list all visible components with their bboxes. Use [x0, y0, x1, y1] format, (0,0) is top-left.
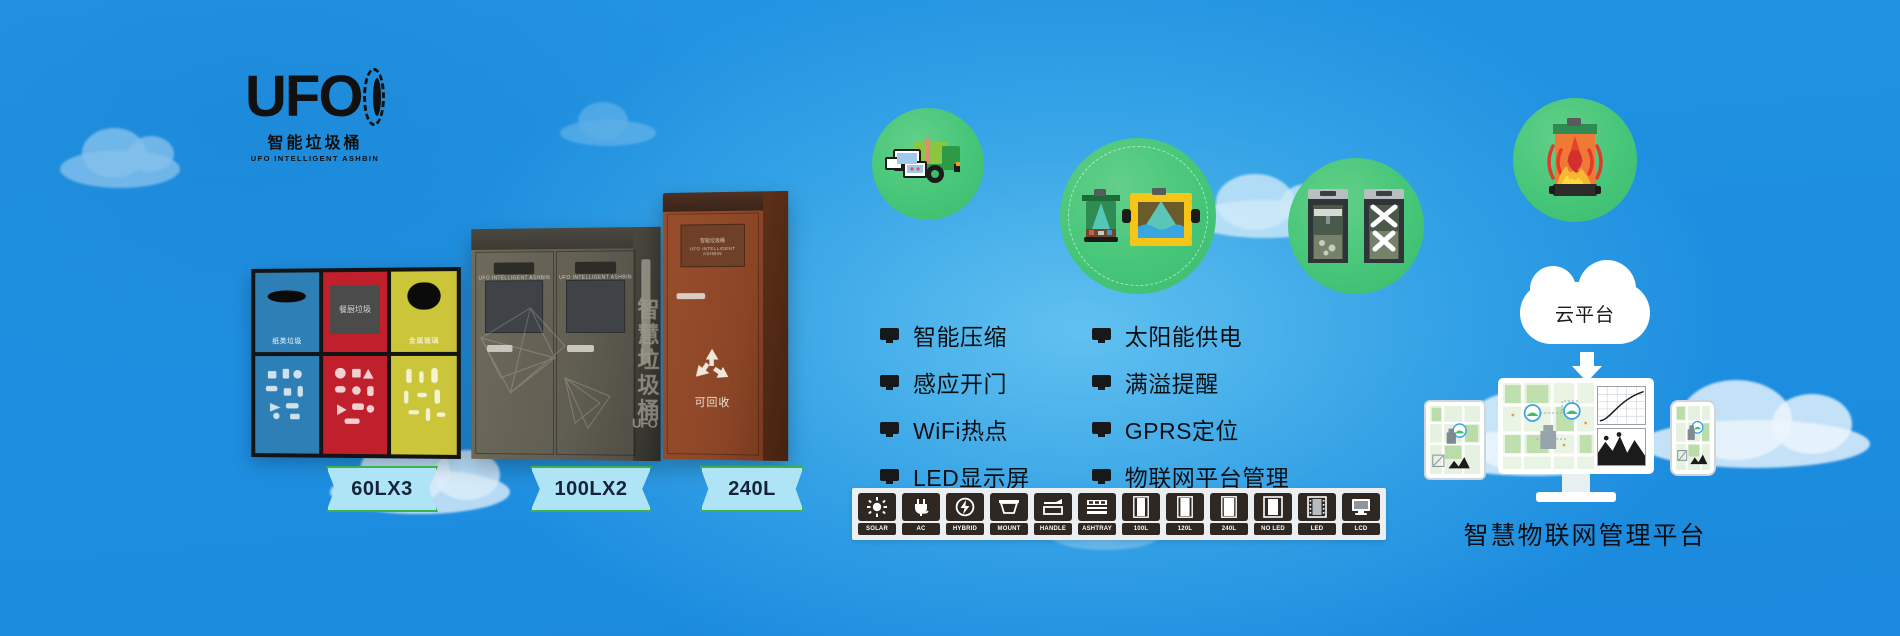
compaction-mechanism-icon: [1302, 183, 1410, 269]
spec-label: HYBRID: [946, 523, 984, 535]
spec-option-mount[interactable]: MOUNT: [990, 493, 1028, 535]
kitchen-waste-graphic: [323, 356, 387, 432]
plug-icon: [902, 493, 940, 521]
spec-option-hybrid[interactable]: HYBRID: [946, 493, 984, 535]
spec-option-strip: SOLAR AC HYBRID MOUNT: [852, 488, 1386, 540]
feature-list: 智能压缩 感应开门 WiFi热点 LED显示屏 太阳能供电 满溢提醒: [880, 318, 1289, 493]
feature-circle-fill-sensor: [1060, 138, 1216, 294]
spec-label: ASHTRAY: [1078, 523, 1116, 535]
desktop-monitor: [1498, 378, 1654, 474]
no-led-icon: [1254, 493, 1292, 521]
monitor-base: [1536, 492, 1616, 502]
spec-option-no-led[interactable]: NO LED: [1254, 493, 1292, 535]
product-triple-bin: 纸类垃圾: [250, 268, 460, 458]
bin-240l-icon: [1210, 493, 1248, 521]
phone-map: [1676, 406, 1710, 470]
feature-column-left: 智能压缩 感应开门 WiFi热点 LED显示屏: [880, 318, 1030, 493]
feature-column-right: 太阳能供电 满溢提醒 GPRS定位 物联网平台管理: [1092, 318, 1290, 493]
line-chart: [1597, 386, 1646, 425]
recycle-label: 可回收: [668, 393, 758, 410]
bin-side-panel: [763, 191, 788, 461]
monitor-bullet-icon: [880, 422, 899, 437]
door-handle: [676, 293, 705, 298]
feature-circle-fire-alarm: [1513, 98, 1637, 222]
feature-item: 满溢提醒: [1092, 365, 1290, 399]
spec-label: 100L: [1122, 523, 1160, 535]
dashboard-map: [1503, 383, 1594, 469]
feature-label: 智能压缩: [913, 318, 1007, 352]
logo-english-name: UFO INTELLIGENT ASHBIN: [245, 154, 385, 163]
bin-panel-blue: 纸类垃圾: [255, 272, 319, 453]
dashboard-charts: [1594, 383, 1649, 469]
product-dual-bin: UFO INTELLIGENT ASHBIN UFO INTELLIGENT A…: [470, 228, 660, 460]
fire-alarm-icon: [1529, 116, 1621, 204]
cloud-platform-bubble: 云平台: [1520, 282, 1650, 344]
capacity-badge-60l: 60LX3: [326, 466, 438, 512]
lcd-icon: [1342, 493, 1380, 521]
feature-label: WiFi热点: [913, 412, 1008, 446]
feature-item: GPRS定位: [1092, 412, 1290, 446]
recycle-icon: [691, 346, 735, 386]
spec-option-lcd[interactable]: LCD: [1342, 493, 1380, 535]
platform-caption: 智慧物联网管理平台: [1420, 516, 1750, 552]
bin-panel-yellow: 金属玻璃: [391, 271, 456, 455]
panel-label: 餐厨垃圾: [334, 289, 375, 331]
brand-logo: UFO 智能垃圾桶 UFO INTELLIGENT ASHBIN: [245, 68, 385, 163]
feature-label: 感应开门: [913, 365, 1007, 399]
recyclable-graphic: [255, 356, 319, 431]
spec-label: 240L: [1210, 523, 1248, 535]
bin-logo: UFO: [632, 415, 657, 433]
logo-wordmark: UFO: [245, 71, 361, 123]
monitor-bullet-icon: [1092, 375, 1111, 390]
feature-circle-truck-dashboard: [872, 108, 984, 220]
spec-option-handle[interactable]: HANDLE: [1034, 493, 1072, 535]
spec-option-led[interactable]: LED: [1298, 493, 1336, 535]
spec-option-240l[interactable]: 240L: [1210, 493, 1248, 535]
handle-icon: [1034, 493, 1072, 521]
bin-100l-icon: [1122, 493, 1160, 521]
panel-label: 金属玻璃: [391, 335, 456, 345]
spec-label: MOUNT: [990, 523, 1028, 535]
monitor-bullet-icon: [1092, 328, 1111, 343]
screen-label-en: UFO INTELLIGENT ASHBIN: [681, 246, 744, 257]
spec-option-120l[interactable]: 120L: [1166, 493, 1204, 535]
fill-level-sensor-icon: [1076, 179, 1200, 253]
spec-label: 120L: [1166, 523, 1204, 535]
monitor-bullet-icon: [880, 375, 899, 390]
spec-option-100l[interactable]: 100L: [1122, 493, 1160, 535]
spec-label: SOLAR: [858, 523, 896, 535]
monitor-bullet-icon: [1092, 422, 1111, 437]
spec-label: LED: [1298, 523, 1336, 535]
tablet-map: [1430, 406, 1480, 474]
bin-logo-text: UFO: [632, 416, 657, 431]
display-screen: 智能垃圾桶 UFO INTELLIGENT ASHBIN: [680, 224, 745, 268]
bin-vertical-label: 智慧垃圾桶: [630, 297, 662, 423]
feature-item: 智能压缩: [880, 318, 1030, 352]
screen-label-cn: 智能垃圾桶: [681, 237, 744, 245]
feature-label: GPRS定位: [1125, 412, 1239, 446]
led-icon: [1298, 493, 1336, 521]
cloud-decoration: [60, 150, 180, 188]
sun-icon: [858, 493, 896, 521]
bin-panel-red: 餐厨垃圾: [323, 272, 388, 455]
iot-platform-illustration: 云平台: [1420, 300, 1750, 560]
display-screen: 餐厨垃圾: [331, 285, 380, 335]
spec-option-ashtray[interactable]: ASHTRAY: [1078, 493, 1116, 535]
cloud-decoration: [560, 120, 656, 146]
spec-label: AC: [902, 523, 940, 535]
capacity-badge-100l: 100LX2: [530, 466, 652, 512]
feature-item: WiFi热点: [880, 412, 1030, 446]
spec-label: NO LED: [1254, 523, 1292, 535]
feature-label: 满溢提醒: [1125, 365, 1219, 399]
panel-label: 纸类垃圾: [255, 336, 319, 346]
monitor-bullet-icon: [880, 328, 899, 343]
logo-chinese-name: 智能垃圾桶: [245, 129, 385, 153]
product-single-bin: 智能垃圾桶 UFO INTELLIGENT ASHBIN 可回收: [662, 192, 788, 460]
monitor-screen: [1503, 383, 1649, 469]
spec-option-ac[interactable]: AC: [902, 493, 940, 535]
monitor-bullet-icon: [1092, 469, 1111, 484]
garbage-truck-dashboard-icon: [882, 128, 974, 200]
waste-slot-round: [407, 283, 441, 311]
ashtray-icon: [1078, 493, 1116, 521]
feature-label: 太阳能供电: [1125, 318, 1243, 352]
ufo-ring-icon: [363, 68, 385, 126]
metal-glass-graphic: [391, 356, 456, 432]
bin-120l-icon: [1166, 493, 1204, 521]
spec-option-solar[interactable]: SOLAR: [858, 493, 896, 535]
area-chart: [1597, 428, 1646, 467]
tablet-device: [1424, 400, 1486, 480]
feature-item: 感应开门: [880, 365, 1030, 399]
wall-mount-icon: [990, 493, 1028, 521]
capacity-badge-240l: 240L: [700, 466, 804, 512]
waste-slot-oval: [268, 290, 306, 303]
spec-label: HANDLE: [1034, 523, 1072, 535]
promo-banner: UFO 智能垃圾桶 UFO INTELLIGENT ASHBIN 纸类垃圾: [0, 0, 1900, 636]
feature-item: 太阳能供电: [1092, 318, 1290, 352]
hybrid-power-icon: [946, 493, 984, 521]
feature-circle-compaction: [1288, 158, 1424, 294]
spec-label: LCD: [1342, 523, 1380, 535]
cloud-platform-label: 云平台: [1555, 300, 1615, 327]
bin-door: 智能垃圾桶 UFO INTELLIGENT ASHBIN 可回收: [667, 213, 759, 455]
phone-device: [1670, 400, 1716, 476]
monitor-bullet-icon: [880, 469, 899, 484]
